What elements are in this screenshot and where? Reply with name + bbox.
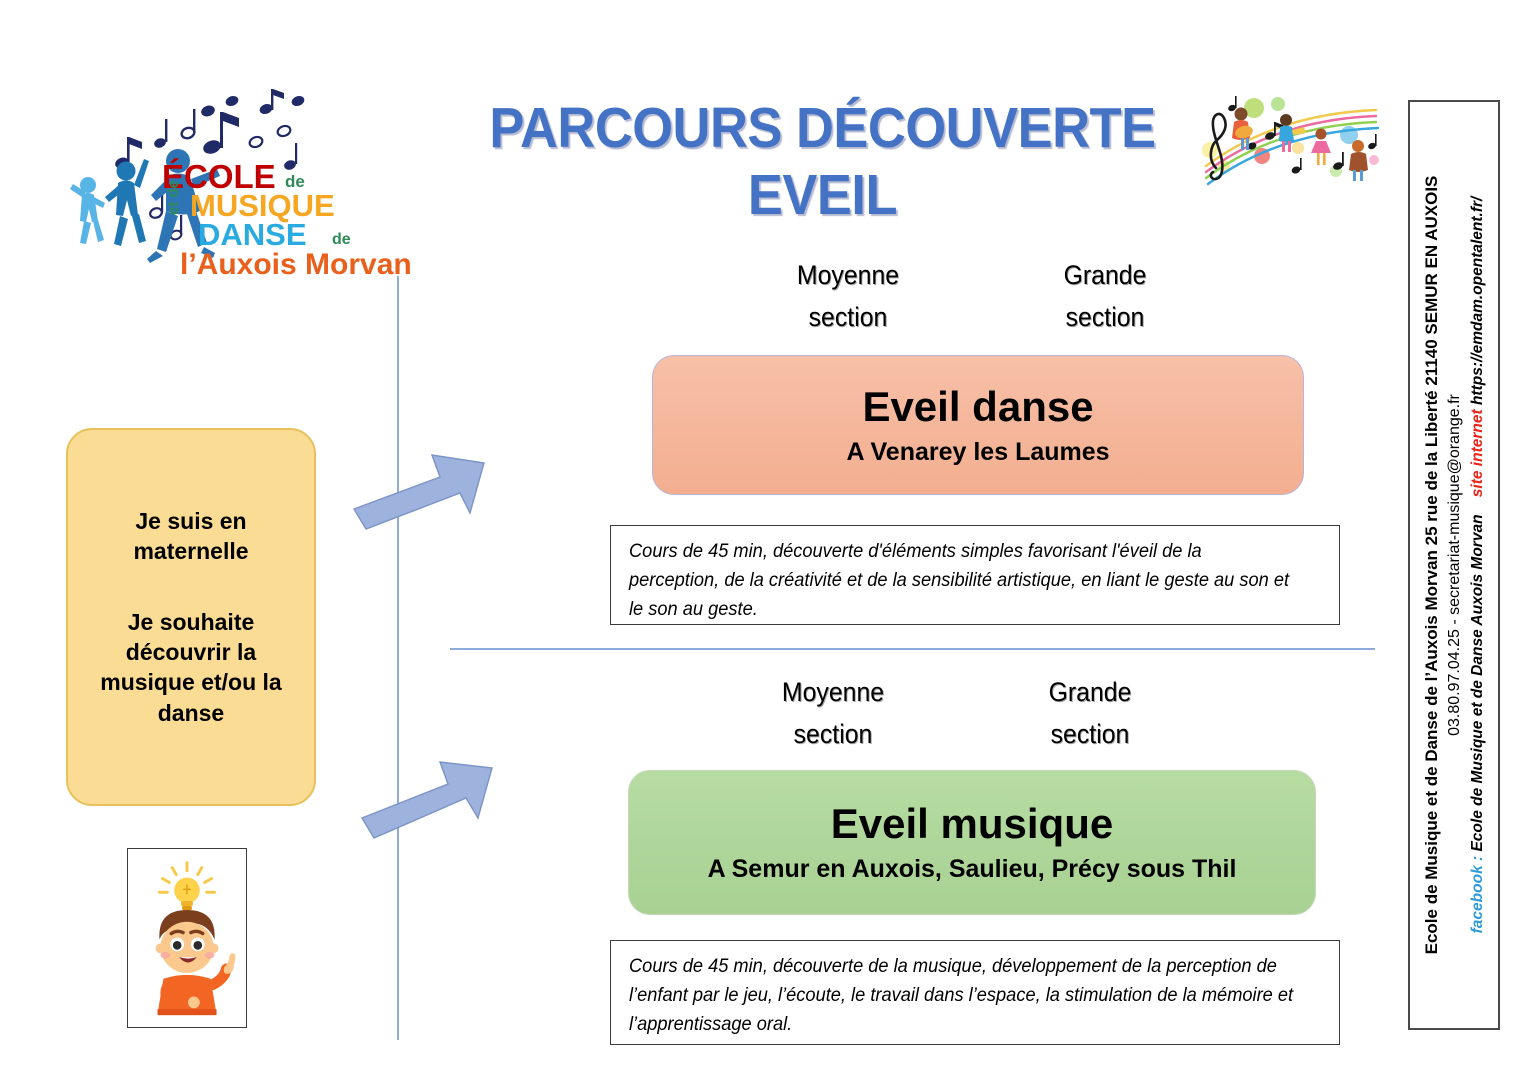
danse-level-moyenne: Moyenne section bbox=[758, 255, 938, 339]
boy-with-lightbulb-icon bbox=[128, 849, 246, 1026]
eveil-danse-title: Eveil danse bbox=[862, 384, 1093, 430]
description-box-danse: Cours de 45 min, découverte d'éléments s… bbox=[610, 525, 1340, 625]
svg-text:DANSE: DANSE bbox=[198, 217, 307, 252]
arrow-down-right-icon bbox=[360, 742, 510, 847]
musique-level-grande: Grande section bbox=[1000, 672, 1180, 756]
audience-question-box: Je suis en maternelle Je souhaite découv… bbox=[66, 428, 316, 806]
arrow-up-right-icon bbox=[352, 437, 502, 537]
svg-text:de: de bbox=[332, 231, 351, 248]
eveil-danse-location: A Venarey les Laumes bbox=[846, 438, 1109, 467]
course-card-eveil-musique: Eveil musique A Semur en Auxois, Saulieu… bbox=[628, 770, 1316, 915]
audience-statement-1: Je suis en maternelle bbox=[82, 506, 300, 567]
music-children-clipart bbox=[1186, 88, 1391, 188]
contact-sidebar: Ecole de Musique et de Danse de l’Auxois… bbox=[1408, 100, 1500, 1030]
sidebar-social-line: facebook : Ecole de Musique et de Danse … bbox=[1468, 197, 1487, 934]
course-card-eveil-danse: Eveil danse A Venarey les Laumes bbox=[652, 355, 1304, 495]
clipart-child-violin bbox=[1349, 140, 1368, 181]
musique-grande-line1: Grande bbox=[1007, 672, 1173, 714]
facebook-label: facebook : bbox=[1469, 856, 1486, 934]
musique-level-labels: Moyenne section Grande section bbox=[625, 672, 1295, 764]
musique-level-moyenne: Moyenne section bbox=[743, 672, 923, 756]
sidebar-phone-email-line: 03.80.97.04.25 - secretariat-musique@ora… bbox=[1445, 394, 1465, 736]
site-internet-label: site internet bbox=[1469, 409, 1486, 497]
arrow-to-musique bbox=[360, 742, 510, 847]
danse-level-labels: Moyenne section Grande section bbox=[640, 255, 1310, 350]
description-box-musique: Cours de 45 min, découverte de la musiqu… bbox=[610, 940, 1340, 1045]
poster-page: ÉCOLE de MUSIQUE et de DANSE de l’Auxois… bbox=[0, 0, 1528, 1080]
sidebar-address-line: Ecole de Musique et de Danse de l’Auxois… bbox=[1421, 176, 1442, 955]
facebook-value[interactable]: Ecole de Musique et de Danse Auxois Morv… bbox=[1469, 514, 1486, 851]
eveil-musique-title: Eveil musique bbox=[831, 801, 1113, 847]
danse-moyenne-line2: section bbox=[765, 297, 931, 339]
vertical-connector-line bbox=[397, 276, 399, 1040]
music-children-clipart-svg bbox=[1186, 88, 1391, 188]
contact-sidebar-text: Ecole de Musique et de Danse de l’Auxois… bbox=[1414, 113, 1494, 1018]
musique-moyenne-line1: Moyenne bbox=[750, 672, 916, 714]
idea-boy-image-frame bbox=[127, 848, 247, 1028]
logo-wordmark: ÉCOLE de MUSIQUE et de DANSE de l’Auxois… bbox=[162, 158, 412, 280]
danse-grande-line2: section bbox=[1022, 297, 1188, 339]
musique-grande-line2: section bbox=[1007, 714, 1173, 756]
poster-title: PARCOURS DÉCOUVERTE EVEIL bbox=[455, 95, 1190, 230]
musique-moyenne-line2: section bbox=[750, 714, 916, 756]
title-line-1: PARCOURS DÉCOUVERTE bbox=[484, 95, 1160, 162]
svg-text:l’Auxois Morvan: l’Auxois Morvan bbox=[180, 248, 412, 280]
horizontal-divider-line bbox=[450, 648, 1375, 650]
description-text-danse: Cours de 45 min, découverte d'éléments s… bbox=[629, 538, 1295, 625]
school-logo: ÉCOLE de MUSIQUE et de DANSE de l’Auxois… bbox=[60, 85, 460, 280]
danse-grande-line1: Grande bbox=[1022, 255, 1188, 297]
audience-statement-2: Je souhaite découvrir la musique et/ou l… bbox=[82, 607, 300, 728]
eveil-musique-location: A Semur en Auxois, Saulieu, Précy sous T… bbox=[708, 855, 1237, 884]
arrow-to-danse bbox=[352, 437, 502, 537]
school-logo-svg: ÉCOLE de MUSIQUE et de DANSE de l’Auxois… bbox=[60, 85, 460, 280]
svg-text:et de: et de bbox=[165, 180, 182, 215]
title-line-2: EVEIL bbox=[484, 162, 1160, 229]
site-internet-value[interactable]: https://emdam.opentalent.fr/ bbox=[1469, 197, 1486, 405]
danse-level-grande: Grande section bbox=[1015, 255, 1195, 339]
danse-moyenne-line1: Moyenne bbox=[765, 255, 931, 297]
description-text-musique: Cours de 45 min, découverte de la musiqu… bbox=[629, 953, 1295, 1040]
